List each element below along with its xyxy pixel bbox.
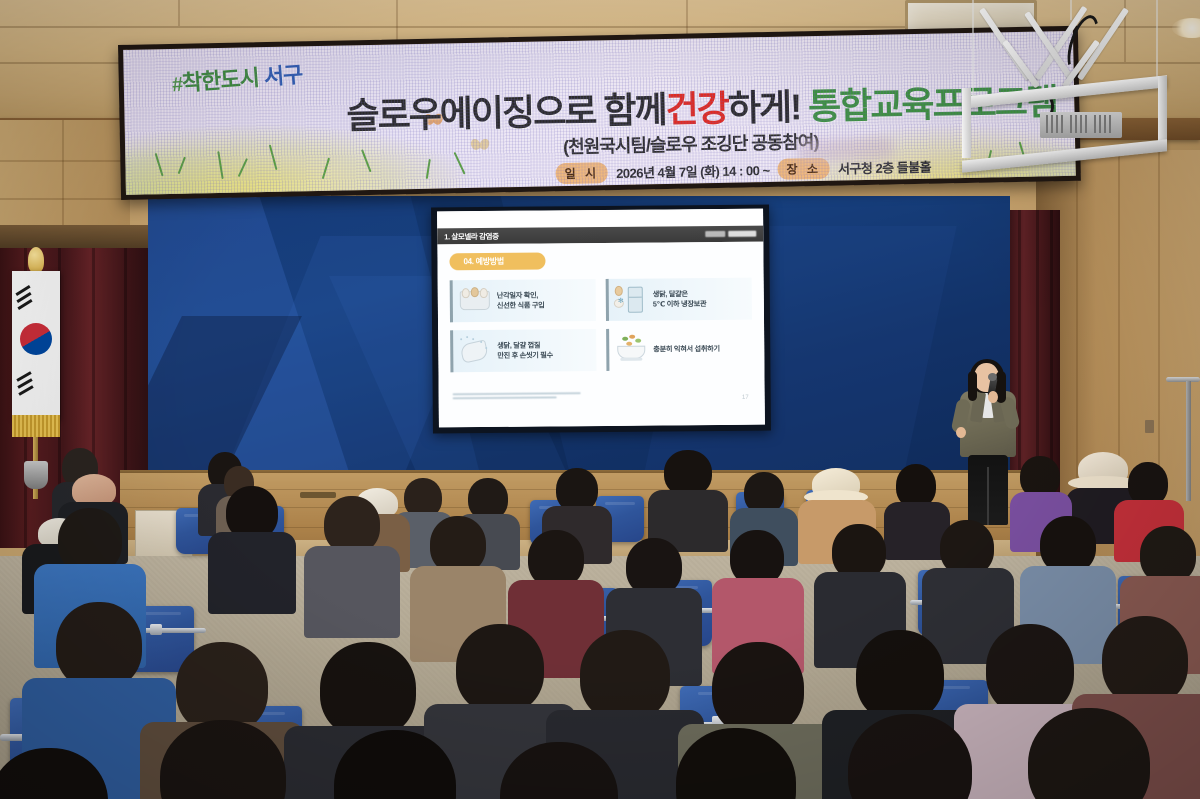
- slide-footnote: [453, 392, 583, 401]
- led-banner-display: #착한도시 서구 슬로우에이징으로 함께건강하게! 통합교육프로그램 (천원국시…: [118, 26, 1081, 200]
- projector-body: [1040, 112, 1122, 138]
- lecture-hall-photo: 여 1. 살모넬라 감염증 04. 예방방법: [0, 0, 1200, 799]
- slide-header-title: 1. 살모넬라 감염증: [444, 230, 498, 241]
- organization-logo-icon: [728, 231, 756, 237]
- scissor-arm: [1002, 40, 1040, 89]
- tip-item: 충분히 익혀서 섭취하기: [606, 328, 752, 371]
- tip-item: 생닭, 달걀 껍질 만진 후 손씻기 필수: [450, 329, 596, 372]
- tip-text: 생닭, 달걀 껍질 만진 후 손씻기 필수: [497, 340, 553, 361]
- banner-glare: [797, 137, 893, 161]
- projector-cage-left: [962, 88, 971, 158]
- tip-item: 난각일자 확인, 신선한 식품 구입: [450, 279, 596, 322]
- tip-text: 생닭, 달걀은 5℃ 이하 냉장보관: [653, 289, 707, 310]
- slide-section-badge: 04. 예방방법: [449, 252, 545, 270]
- presentation-slide: 1. 살모넬라 감염증 04. 예방방법: [437, 209, 765, 428]
- wall-seam: [0, 160, 130, 162]
- chair-hinge: [150, 624, 162, 635]
- date-label-chip: 일 시: [555, 162, 608, 184]
- banner-title-highlight: 건강: [665, 88, 728, 130]
- flag-finial: [28, 247, 44, 273]
- taeguk-circle: [20, 323, 52, 355]
- presenter-hair: [968, 371, 977, 401]
- ceiling-projector-mount: [950, 0, 1200, 175]
- banner-event-meta: 일 시 2026년 4월 7일 (화) 14 : 00 ~ 장 소 서구청 2층…: [555, 156, 931, 185]
- hashtag-place: 서구: [263, 62, 303, 90]
- tip-item: ✻ 생닭, 달걀은 5℃ 이하 냉장보관: [606, 278, 752, 321]
- presenter-hand: [988, 391, 998, 403]
- flag-cloth: [12, 271, 60, 419]
- banner-title-part2: 하게!: [727, 86, 800, 128]
- tip-text: 충분히 익혀서 섭취하기: [653, 344, 720, 355]
- microphone-head: [988, 373, 997, 381]
- cooking-pot-icon: [614, 335, 648, 365]
- projection-screen: 1. 살모넬라 감염증 04. 예방방법: [431, 205, 771, 434]
- slide-logo-group: [705, 231, 756, 237]
- projector-cage-bottom: [962, 139, 1167, 173]
- refrigerator-icon: ✻: [614, 285, 648, 315]
- wall-seam: [62, 120, 64, 242]
- projector-cage-right: [1158, 76, 1167, 148]
- ceiling-seam: [178, 0, 180, 26]
- wall-seam: [0, 198, 130, 200]
- prevention-tips-grid: 난각일자 확인, 신선한 식품 구입 ✻: [450, 278, 753, 373]
- audience-area: [0, 430, 1200, 799]
- banner-subtitle: (천원국시팀/슬로우 조깅단 공동참여): [563, 128, 819, 159]
- organization-logo-icon: [705, 231, 725, 237]
- tip-text: 난각일자 확인, 신선한 식품 구입: [497, 290, 545, 311]
- egg-carton-icon: [458, 286, 492, 316]
- handrail: [1166, 377, 1200, 382]
- scissor-arm: [1024, 11, 1074, 81]
- hashtag-word: 착한도시: [181, 65, 260, 96]
- date-value: 2026년 4월 7일 (화) 14 : 00 ~: [616, 160, 770, 182]
- banner-title-part1: 슬로우에이징으로 함께: [346, 89, 666, 136]
- slide-page-number: 17: [742, 395, 749, 401]
- handwash-icon: [458, 336, 492, 366]
